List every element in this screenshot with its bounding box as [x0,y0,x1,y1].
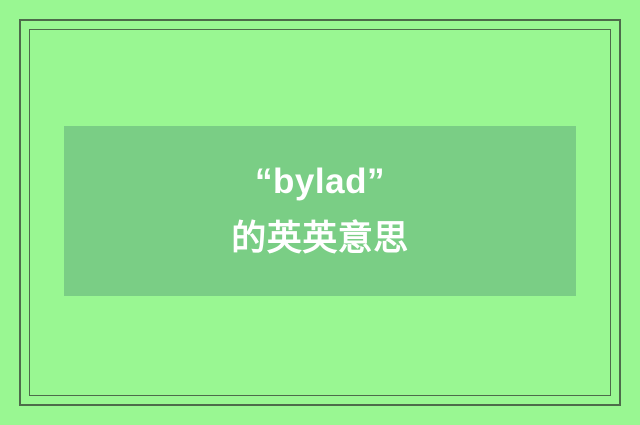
poster-canvas: “bylad” 的英英意思 [0,0,640,425]
title-suffix: 的英英意思 [231,219,409,258]
term-text: bylad [273,162,367,201]
headline-panel: “bylad” 的英英意思 [64,126,576,296]
page-title: “bylad” 的英英意思 [156,154,484,267]
closing-quote: ” [367,162,385,201]
opening-quote: “ [255,162,273,201]
